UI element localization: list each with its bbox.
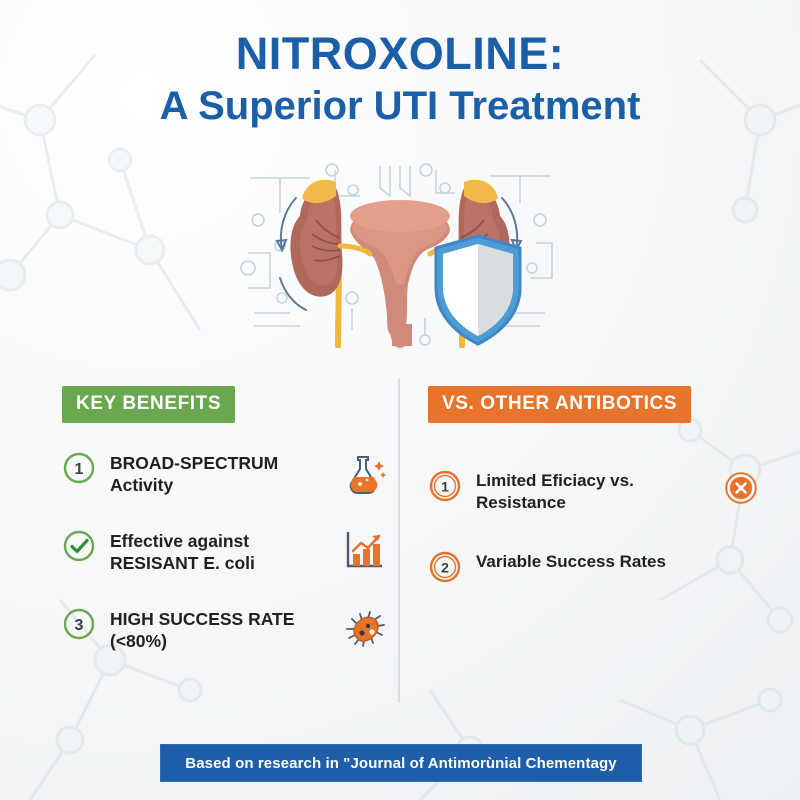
- page-title: NITROXOLINE: A Superior UTI Treatment: [0, 28, 800, 130]
- list-item-line-1: Effective against: [110, 531, 249, 551]
- marker-label: 3: [75, 617, 84, 634]
- number-circle-1-icon: 1: [62, 451, 96, 485]
- list-item-line-2: Activity: [110, 474, 333, 496]
- key-benefits-column: KEY BENEFITS 1 BROAD-SPECTRUM Activity: [62, 386, 387, 682]
- check-circle-icon: [62, 529, 96, 563]
- number-circle-1-icon: 1: [428, 469, 462, 503]
- infographic-poster: NITROXOLINE: A Superior UTI Treatment: [0, 0, 800, 800]
- list-item-line-2: RESISANT E. coli: [110, 552, 333, 574]
- list-item-text: BROAD-SPECTRUM Activity: [110, 449, 333, 497]
- marker-label: 2: [441, 559, 449, 575]
- title-line-2: A Superior UTI Treatment: [0, 82, 800, 130]
- key-benefits-list: 1 BROAD-SPECTRUM Activity: [62, 449, 387, 652]
- bacteria-icon: [341, 605, 387, 651]
- number-circle-2-icon: 2: [428, 550, 462, 584]
- list-item-line-1: BROAD-SPECTRUM: [110, 453, 278, 473]
- list-item-text: Effective against RESISANT E. coli: [110, 527, 333, 575]
- source-banner: Based on research in "Journal of Antimor…: [160, 744, 642, 782]
- list-item: 2 Variable Success Rates: [428, 548, 758, 584]
- x-circle-icon: [724, 471, 758, 505]
- list-item-line-1: HIGH SUCCESS RATE: [110, 609, 294, 629]
- list-item-text: HIGH SUCCESS RATE (<80%): [110, 605, 333, 653]
- list-item: 1 BROAD-SPECTRUM Activity: [62, 449, 387, 497]
- flask-icon: [341, 449, 387, 495]
- number-circle-3-icon: 3: [62, 607, 96, 641]
- list-item-line-1: Limited Eficiacy vs.: [476, 471, 634, 490]
- vs-other-antibiotics-list: 1 Limited Eficiacy vs. Resistance 2: [428, 467, 758, 584]
- bar-chart-growth-icon: [341, 527, 387, 573]
- column-divider: [398, 378, 400, 703]
- list-item-line-2: Resistance: [476, 492, 716, 514]
- list-item-line-1: Variable Success Rates: [476, 552, 666, 571]
- list-item: 1 Limited Eficiacy vs. Resistance: [428, 467, 758, 514]
- key-benefits-heading: KEY BENEFITS: [62, 386, 235, 423]
- vs-other-antibiotics-heading: VS. OTHER ANTIBOTICS: [428, 386, 691, 423]
- list-item-text: Variable Success Rates: [476, 548, 758, 573]
- list-item: 3 HIGH SUCCESS RATE (<80%): [62, 605, 387, 653]
- marker-label: 1: [75, 461, 84, 478]
- marker-label: 1: [441, 479, 449, 495]
- list-item-text: Limited Eficiacy vs. Resistance: [476, 467, 716, 514]
- list-item: Effective against RESISANT E. coli: [62, 527, 387, 575]
- urinary-system-with-shield-illustration: [240, 158, 560, 348]
- vs-other-antibiotics-column: VS. OTHER ANTIBOTICS 1 Limited Eficiacy …: [428, 386, 758, 618]
- title-line-1: NITROXOLINE:: [0, 28, 800, 80]
- list-item-line-2: (<80%): [110, 630, 333, 652]
- source-banner-text: Based on research in "Journal of Antimor…: [185, 755, 616, 772]
